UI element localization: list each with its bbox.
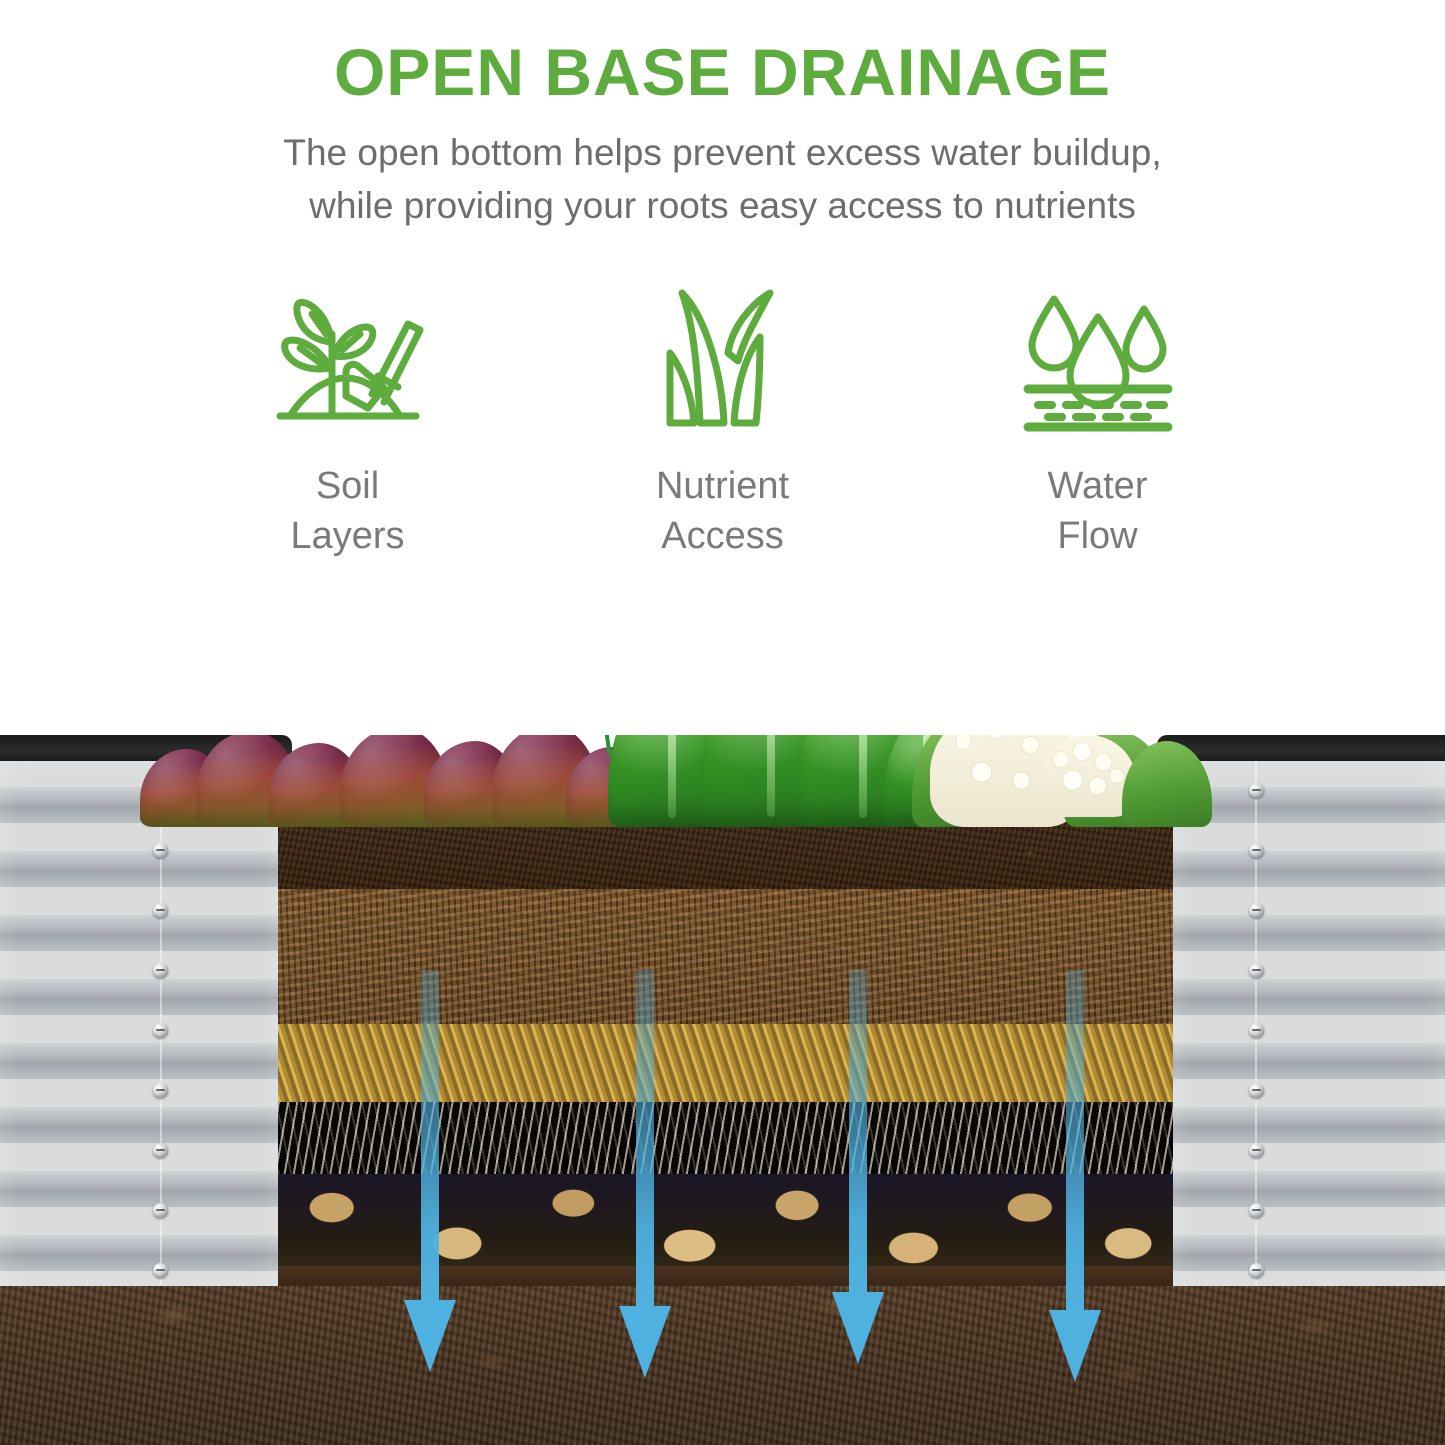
feature-label-line-2: Layers [160,512,535,561]
page-title: OPEN BASE DRAINAGE [0,38,1445,107]
plant-row [0,735,1445,895]
arrow-head [832,1292,884,1364]
feature-nutrient-access-label: Nutrient Access [535,462,910,561]
soil-layer-mulch-wood-chips [278,889,1173,1024]
soil-layer-straw-hay [278,1024,1173,1102]
feature-nutrient-access: Nutrient Access [535,274,910,561]
panel-screw [1249,1263,1264,1278]
grass-blades-icon [535,274,910,444]
feature-label-line-2: Flow [910,512,1285,561]
arrow-shaft [421,970,439,1300]
panel-screw [153,1203,168,1218]
panel-screw [153,1083,168,1098]
product-scene [0,735,1445,1445]
arrow-head [619,1306,671,1378]
header: OPEN BASE DRAINAGE The open bottom helps… [0,0,1445,232]
plant-shovel-icon [160,274,535,444]
panel-screw [1249,963,1264,978]
panel-screw [1249,1143,1264,1158]
panel-screw [153,1263,168,1278]
panel-screw [153,903,168,918]
ground-earth [0,1260,1445,1445]
feature-list: Soil Layers Nutrient Access [0,274,1445,561]
soil-layer-branches-twigs [278,1102,1173,1174]
panel-screw [1249,1203,1264,1218]
feature-label-line-1: Soil [160,462,535,511]
panel-screw [153,1023,168,1038]
panel-screw [1249,903,1264,918]
feature-water-flow-label: Water Flow [910,462,1285,561]
arrow-shaft [849,970,867,1292]
feature-label-line-1: Water [910,462,1285,511]
arrow-head [1049,1310,1101,1382]
panel-screw [153,963,168,978]
arrow-head [404,1300,456,1372]
water-droplets-icon [910,274,1285,444]
panel-screw [1249,1023,1264,1038]
feature-water-flow: Water Flow [910,274,1285,561]
panel-screw [153,1143,168,1158]
arrow-shaft [636,970,654,1306]
panel-screw [1249,1083,1264,1098]
feature-label-line-2: Access [535,512,910,561]
subtitle-line-2: while providing your roots easy access t… [0,180,1445,233]
page-subtitle: The open bottom helps prevent excess wat… [0,127,1445,232]
subtitle-line-1: The open bottom helps prevent excess wat… [0,127,1445,180]
feature-label-line-1: Nutrient [535,462,910,511]
soil-layer-base [278,1266,1173,1286]
feature-soil-layers: Soil Layers [160,274,535,561]
feature-soil-layers-label: Soil Layers [160,462,535,561]
arrow-shaft [1066,970,1084,1310]
